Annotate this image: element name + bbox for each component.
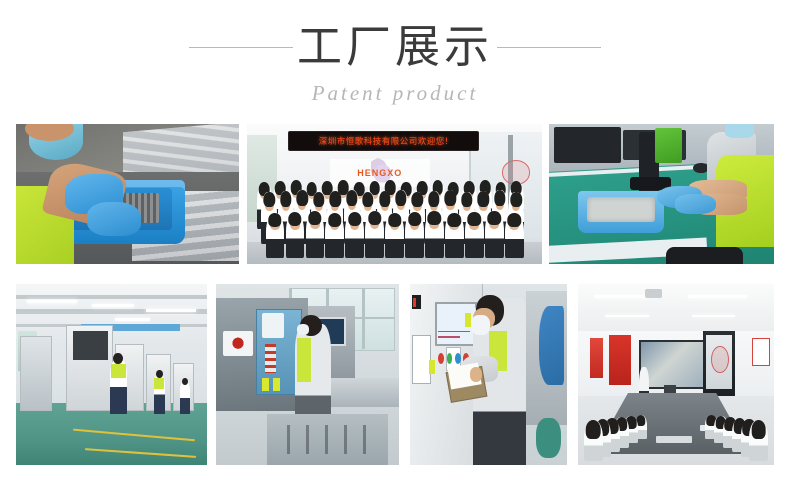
meeting-attendees	[582, 375, 770, 466]
meeting-attendee	[749, 420, 768, 462]
attendee-head	[586, 420, 601, 439]
group-photo-person	[485, 211, 504, 258]
person-head	[362, 192, 373, 208]
wall-seal-emblem	[711, 346, 729, 373]
group-photo-person	[286, 212, 305, 258]
person-head	[264, 192, 275, 208]
group-photo-person	[385, 213, 404, 258]
person-head	[494, 190, 505, 206]
person-head	[428, 211, 441, 225]
photo-inspector-clipboard[interactable]	[410, 284, 567, 465]
person-head	[511, 192, 522, 208]
machine-brand-decal	[223, 331, 252, 356]
person-head	[297, 190, 308, 206]
person-head	[280, 191, 291, 207]
person-head	[313, 192, 324, 208]
factory-showcase-page: 工厂展示 Patent product	[0, 0, 790, 493]
meeting-attendee	[584, 420, 603, 462]
photo-production-line[interactable]	[16, 284, 207, 465]
person-head	[388, 213, 401, 227]
photo-inspector-clipboard-scene	[410, 284, 567, 465]
photo-meeting-room-scene	[578, 284, 774, 465]
group-photo-person	[425, 211, 444, 258]
group-photo-person	[365, 211, 384, 258]
person-head	[328, 213, 341, 227]
group-photo-person	[465, 212, 484, 258]
photo-meeting-room[interactable]	[578, 284, 774, 465]
person-head	[308, 211, 321, 225]
person-head	[268, 213, 281, 227]
person-head	[329, 191, 340, 207]
person-head	[408, 212, 421, 226]
photo-cnc-operator-scene	[216, 284, 399, 465]
photo-production-line-scene	[16, 284, 207, 465]
group-photo-person	[505, 213, 524, 258]
person-head	[428, 191, 439, 207]
person-head	[488, 211, 501, 225]
group-photo-person	[405, 212, 424, 258]
person-head	[288, 212, 301, 226]
group-photo-crowd	[253, 180, 536, 258]
person-head	[412, 192, 423, 208]
person-head	[368, 211, 381, 225]
person-head	[395, 190, 406, 206]
person-head	[461, 192, 472, 208]
person-head	[348, 212, 361, 226]
group-photo-person	[325, 213, 344, 258]
group-photo-person	[266, 213, 285, 258]
person-head	[379, 191, 390, 207]
group-photo-person	[306, 211, 325, 258]
person-head	[478, 191, 489, 207]
person-head	[468, 212, 481, 226]
group-photo-person	[445, 213, 464, 258]
person-head	[448, 213, 461, 227]
photo-cnc-operator[interactable]	[216, 284, 399, 465]
ceiling-projector	[645, 289, 663, 298]
attendee-head	[751, 420, 766, 439]
person-head	[445, 190, 456, 206]
person-head	[346, 190, 357, 206]
person-head	[507, 213, 520, 227]
group-photo-person	[345, 212, 364, 258]
